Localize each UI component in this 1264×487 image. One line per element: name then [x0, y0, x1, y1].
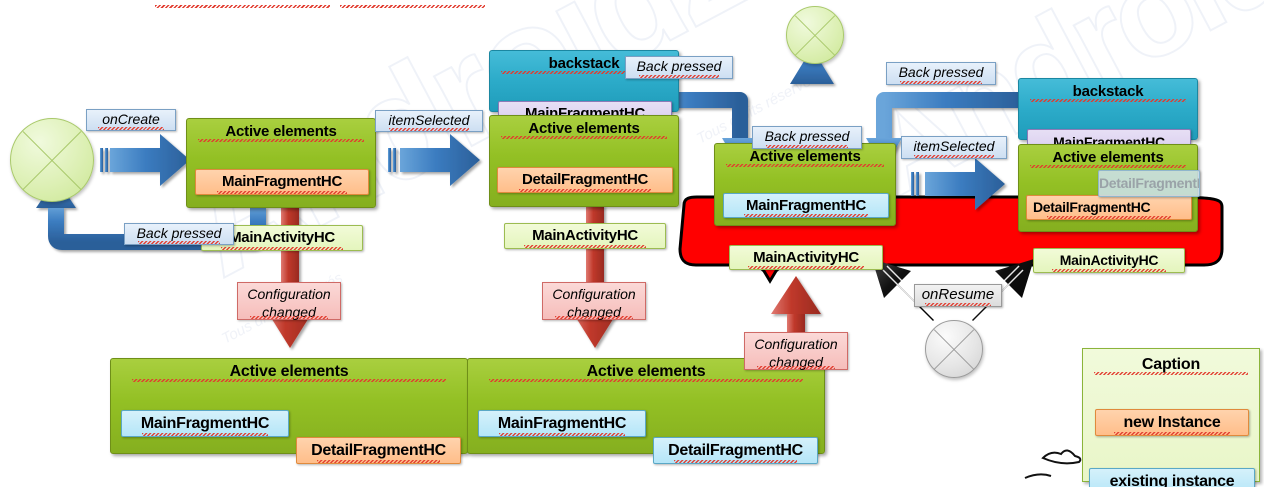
label-itemselected-2[interactable]: itemSelected	[901, 136, 1007, 159]
state-bottom-2-chip-main-fragment[interactable]: MainFragmentHC	[478, 410, 646, 437]
label-config-changed-3[interactable]: Configuration changed	[744, 332, 848, 370]
arrow-itemselected-2	[911, 158, 1005, 210]
label-config-changed-1-line2: changed	[262, 304, 316, 320]
start-circle-left	[10, 118, 94, 202]
label-config-changed-3-line1: Configuration	[754, 336, 837, 352]
state-1-chip-main-fragment[interactable]: MainFragmentHC	[195, 169, 369, 195]
state-2-chip-main-activity[interactable]: MainActivityHC	[504, 223, 666, 249]
state-box-bottom-1[interactable]: Active elements MainFragmentHC DetailFra…	[110, 358, 468, 454]
state-4-backstack-header: backstack	[1019, 79, 1197, 102]
cloud-doodle	[1025, 450, 1080, 478]
state-box-4[interactable]: Active elements DetailFragmentHC DetailF…	[1018, 144, 1198, 232]
state-4-backstack[interactable]: backstack MainFragmentHC	[1018, 78, 1198, 140]
end-circle-top	[786, 6, 844, 64]
state-2-header: Active elements	[490, 116, 678, 139]
state-4-chip-main-activity[interactable]: MainActivityHC	[1033, 248, 1185, 273]
diagram-canvas: Android2EE Android2EE Tous droits réserv…	[0, 0, 1264, 487]
label-config-changed-2-line1: Configuration	[552, 286, 635, 302]
label-backpressed-3[interactable]: Back pressed	[752, 126, 862, 149]
caption-item-existing-instance: existing instance	[1089, 468, 1255, 487]
caption-title: Caption	[1083, 349, 1259, 375]
state-bottom-1-chip-main-fragment[interactable]: MainFragmentHC	[121, 410, 289, 437]
arrow-itemselected-1	[388, 134, 480, 186]
state-3-chip-main-fragment[interactable]: MainFragmentHC	[723, 193, 889, 218]
state-box-bottom-2[interactable]: Active elements MainFragmentHC DetailFra…	[467, 358, 825, 454]
label-backpressed-2[interactable]: Back pressed	[625, 56, 733, 79]
state-1-header: Active elements	[187, 119, 375, 142]
state-3-chip-main-activity[interactable]: MainActivityHC	[729, 245, 883, 270]
arrow-oncreate	[100, 134, 190, 186]
state-4-chip-detail-fragment-ghost[interactable]: DetailFragmentHC	[1098, 170, 1200, 197]
state-bottom-1-header: Active elements	[111, 359, 467, 382]
label-config-changed-1[interactable]: Configuration changed	[237, 282, 341, 320]
label-backpressed-4[interactable]: Back pressed	[886, 62, 996, 85]
label-config-changed-3-line2: changed	[769, 354, 823, 370]
label-config-changed-1-line1: Configuration	[247, 286, 330, 302]
label-onresume[interactable]: onResume	[914, 284, 1002, 307]
state-box-3[interactable]: Active elements MainFragmentHC MainActiv…	[714, 143, 896, 226]
label-config-changed-2[interactable]: Configuration changed	[542, 282, 646, 320]
label-itemselected-1[interactable]: itemSelected	[375, 110, 483, 132]
label-oncreate[interactable]: onCreate	[86, 109, 176, 131]
state-4-header: Active elements	[1019, 145, 1197, 168]
state-bottom-2-chip-detail-fragment[interactable]: DetailFragmentHC	[653, 437, 818, 464]
state-4-chip-detail-fragment[interactable]: DetailFragmentHC	[1026, 195, 1192, 220]
state-bottom-1-chip-detail-fragment[interactable]: DetailFragmentHC	[296, 437, 461, 464]
process-death-circle	[925, 320, 983, 378]
state-box-2[interactable]: Active elements DetailFragmentHC MainAct…	[489, 115, 679, 207]
state-2-chip-detail-fragment[interactable]: DetailFragmentHC	[497, 167, 673, 193]
caption-legend: Caption new Instance existing instance s…	[1082, 348, 1260, 482]
label-config-changed-2-line2: changed	[567, 304, 621, 320]
label-backpressed-1[interactable]: Back pressed	[124, 223, 234, 245]
state-box-1[interactable]: Active elements MainFragmentHC MainActiv…	[186, 118, 376, 208]
caption-item-new-instance: new Instance	[1095, 409, 1249, 436]
